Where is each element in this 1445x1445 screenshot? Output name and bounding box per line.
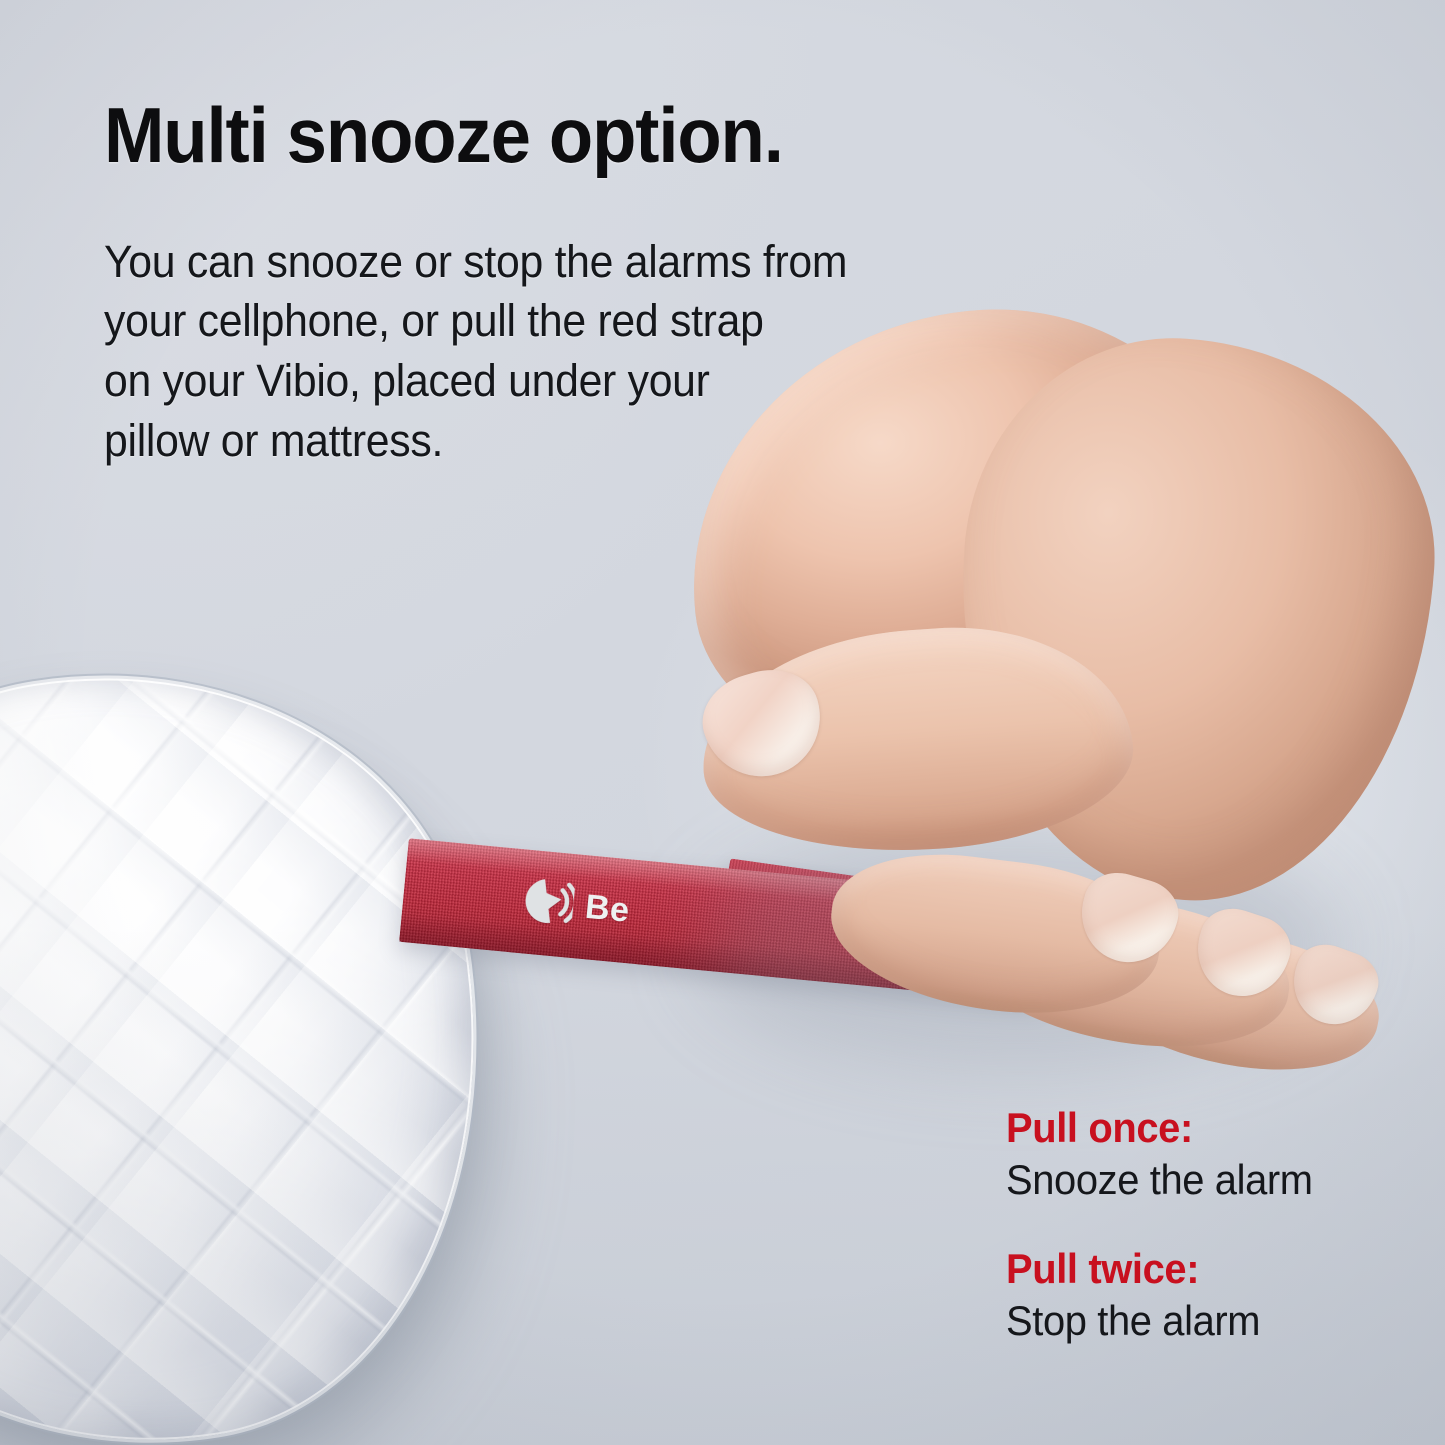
- quilted-pad: [0, 624, 536, 1445]
- copy-block: Multi snooze option. You can snooze or s…: [104, 96, 1004, 471]
- callout-title: Pull twice:: [1006, 1245, 1386, 1292]
- callout-title: Pull once:: [1006, 1104, 1386, 1151]
- product-feature-image: Be Multi snooze option. You can snooze o…: [0, 0, 1445, 1445]
- strap-brand-text: Be: [583, 888, 631, 931]
- body-line: on your Vibio, placed under your: [104, 351, 959, 411]
- callout-pull-twice: Pull twice: Stop the alarm: [1006, 1245, 1406, 1346]
- body-line: your cellphone, or pull the red strap: [104, 291, 959, 351]
- callout-pull-once: Pull once: Snooze the alarm: [1006, 1104, 1406, 1205]
- body-line: pillow or mattress.: [104, 411, 959, 471]
- speaker-sound-icon: [519, 873, 576, 935]
- vibio-device: [0, 676, 510, 1445]
- page-title: Multi snooze option.: [104, 96, 941, 176]
- callout-description: Stop the alarm: [1006, 1296, 1386, 1346]
- body-line: You can snooze or stop the alarms from: [104, 232, 959, 292]
- callout-description: Snooze the alarm: [1006, 1155, 1386, 1205]
- strap-branding: Be: [519, 873, 632, 940]
- body-copy: You can snooze or stop the alarms from y…: [104, 232, 959, 471]
- instruction-callouts: Pull once: Snooze the alarm Pull twice: …: [1006, 1104, 1406, 1345]
